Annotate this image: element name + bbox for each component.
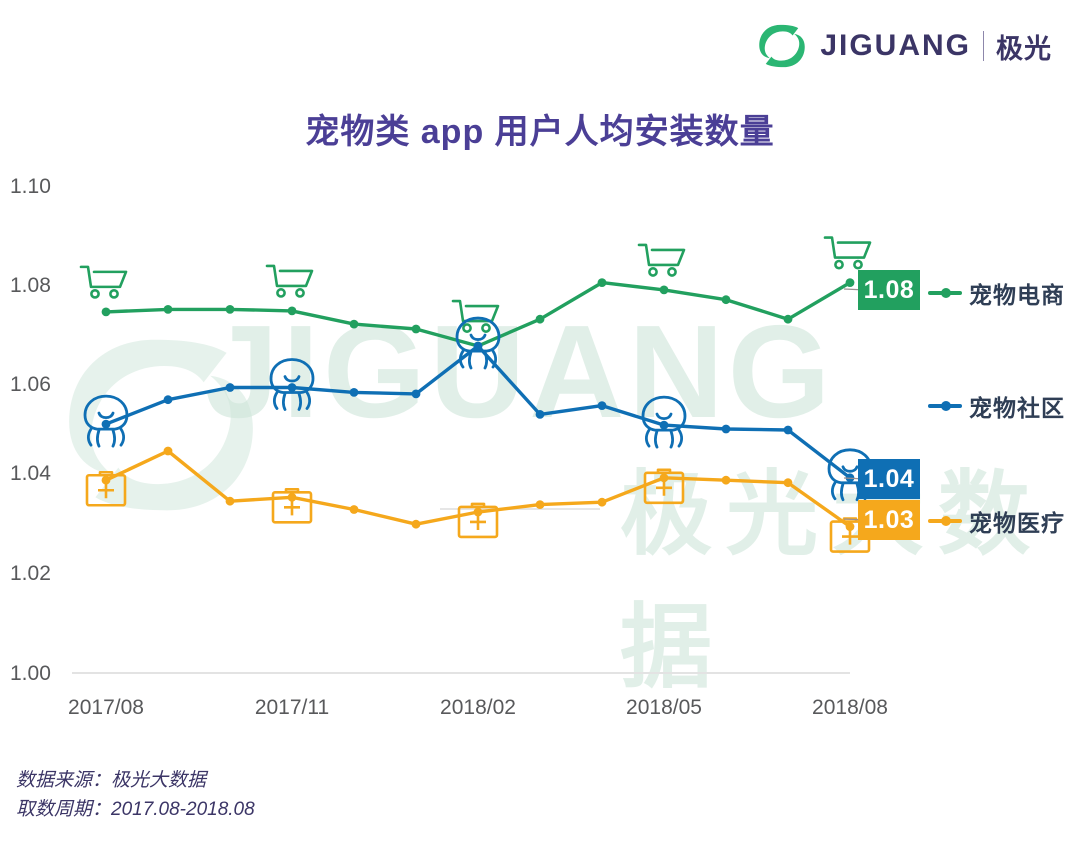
series-point xyxy=(846,278,855,287)
legend-marker-icon xyxy=(928,291,962,295)
value-badge-medical: 1.03 xyxy=(858,500,920,540)
series-point xyxy=(288,307,297,316)
legend-item-community[interactable]: 宠物社区 xyxy=(928,389,1065,423)
data-period-text: 取数周期：2017.08-2018.08 xyxy=(16,795,255,824)
series-point xyxy=(350,505,359,514)
chart-plot-area: 1.10 1.08 1.06 1.04 1.02 1.00 2017/08 20… xyxy=(0,0,1080,842)
legend-marker-icon xyxy=(928,404,962,408)
series-point xyxy=(164,305,173,314)
series-point xyxy=(474,342,483,351)
series-point xyxy=(226,383,235,392)
series-point xyxy=(660,286,669,295)
series-point xyxy=(536,315,545,324)
series-point xyxy=(164,447,173,456)
series-point xyxy=(412,390,421,399)
legend-item-ecommerce[interactable]: 宠物电商 xyxy=(928,276,1065,310)
series-line xyxy=(106,283,850,346)
series-point xyxy=(598,278,607,287)
series-point xyxy=(536,410,545,419)
series-point xyxy=(412,520,421,529)
series-point xyxy=(660,421,669,430)
series-point xyxy=(784,478,793,487)
series-line xyxy=(106,346,850,478)
series-point xyxy=(164,395,173,404)
chart-series-layer xyxy=(0,0,1080,842)
series-point xyxy=(784,315,793,324)
legend-label: 宠物电商 xyxy=(969,276,1065,310)
series-point xyxy=(226,305,235,314)
shopping-cart-icon xyxy=(825,238,870,269)
value-badge-ecommerce: 1.08 xyxy=(858,270,920,310)
shopping-cart-icon xyxy=(267,266,312,297)
series-point xyxy=(722,425,731,434)
legend-marker-icon xyxy=(928,519,962,523)
legend-label: 宠物医疗 xyxy=(969,504,1065,538)
series-point xyxy=(536,500,545,509)
legend-label: 宠物社区 xyxy=(969,389,1065,423)
shopping-cart-icon xyxy=(81,267,126,298)
series-point xyxy=(784,426,793,435)
series-point xyxy=(350,388,359,397)
legend-item-medical[interactable]: 宠物医疗 xyxy=(928,504,1065,538)
series-point xyxy=(102,308,111,317)
series-point xyxy=(102,420,111,429)
data-source-text: 数据来源：极光大数据 xyxy=(16,766,255,795)
footer-note: 数据来源：极光大数据 取数周期：2017.08-2018.08 xyxy=(16,766,255,825)
series-point xyxy=(288,383,297,392)
series-point xyxy=(598,401,607,410)
series-point xyxy=(226,497,235,506)
series-point xyxy=(598,498,607,507)
value-badge-community: 1.04 xyxy=(858,459,920,499)
shopping-cart-icon xyxy=(639,245,684,276)
series-point xyxy=(412,325,421,334)
series-point xyxy=(350,320,359,329)
series-point xyxy=(722,476,731,485)
series-point xyxy=(722,295,731,304)
